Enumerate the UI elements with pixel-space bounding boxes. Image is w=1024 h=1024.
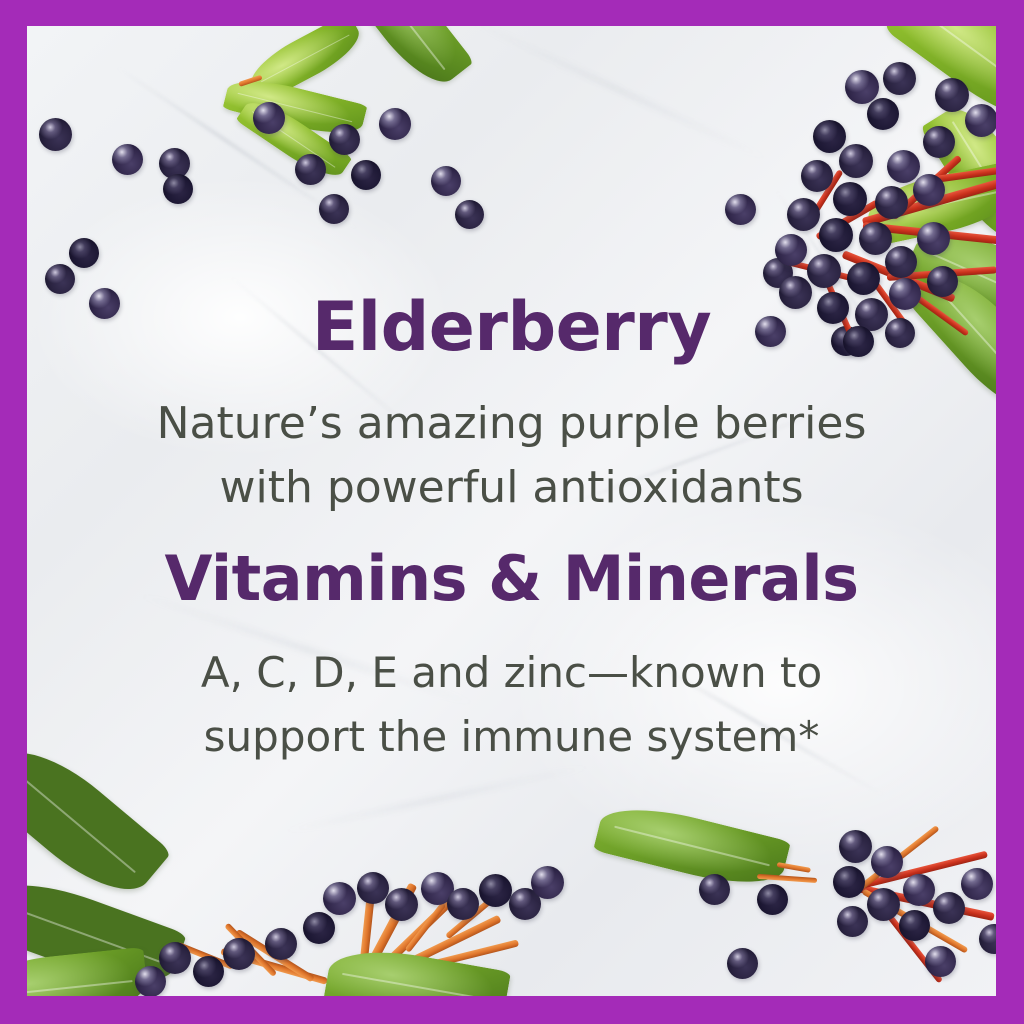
berry-icon: [431, 166, 461, 196]
berry-icon: [801, 160, 833, 192]
berry-icon: [867, 888, 900, 921]
berry-icon: [875, 186, 908, 219]
berry-icon: [479, 874, 512, 907]
berry-icon: [163, 174, 193, 204]
berry-icon: [871, 846, 903, 878]
berry-icon: [351, 160, 381, 190]
berry-icon: [385, 888, 418, 921]
berry-icon: [193, 956, 224, 987]
berry-icon: [69, 238, 99, 268]
berry-icon: [357, 872, 389, 904]
subtitle-primary-line-1: Nature’s amazing purple berries: [27, 392, 996, 456]
marble-vein: [280, 763, 594, 835]
berry-icon: [883, 62, 916, 95]
berry-icon: [807, 254, 841, 288]
berry-icon: [867, 98, 899, 130]
subtitle-primary: Nature’s amazing purple berries with pow…: [27, 392, 996, 520]
subtitle-secondary-line-1: A, C, D, E and zinc—known to: [27, 641, 996, 705]
berry-icon: [725, 194, 756, 225]
berry-icon: [265, 928, 297, 960]
berry-icon: [917, 222, 950, 255]
berry-icon: [787, 198, 820, 231]
berry-icon: [925, 946, 956, 977]
berry-icon: [159, 942, 191, 974]
berry-icon: [847, 262, 880, 295]
berry-icon: [295, 154, 326, 185]
berry-icon: [913, 174, 945, 206]
berry-icon: [135, 966, 166, 996]
page-title: Elderberry: [27, 294, 996, 362]
berry-icon: [379, 108, 411, 140]
berry-icon: [699, 874, 730, 905]
berry-icon: [833, 182, 867, 216]
berry-icon: [223, 938, 255, 970]
berry-icon: [323, 882, 356, 915]
berry-icon: [885, 246, 917, 278]
subtitle-primary-line-2: with powerful antioxidants: [27, 456, 996, 520]
product-benefit-card: Elderberry Nature’s amazing purple berri…: [0, 0, 1024, 1024]
berry-icon: [839, 144, 873, 178]
berry-icon: [819, 218, 853, 252]
berry-icon: [531, 866, 564, 899]
berry-icon: [447, 888, 479, 920]
subtitle-secondary-line-2: support the immune system*: [27, 705, 996, 769]
subtitle-secondary: A, C, D, E and zinc—known to support the…: [27, 641, 996, 769]
berry-icon: [329, 124, 360, 155]
berry-icon: [927, 266, 958, 297]
berry-icon: [839, 830, 872, 863]
berry-icon: [455, 200, 484, 229]
berry-icon: [757, 884, 788, 915]
berry-icon: [935, 78, 969, 112]
berry-icon: [899, 910, 930, 941]
section-heading-vitamins: Vitamins & Minerals: [27, 548, 996, 610]
berry-icon: [727, 948, 758, 979]
berry-icon: [859, 222, 892, 255]
berry-icon: [813, 120, 846, 153]
leaf-icon: [593, 796, 791, 896]
berry-icon: [319, 194, 349, 224]
marble-vein: [462, 26, 773, 164]
berry-icon: [965, 104, 996, 137]
berry-icon: [933, 892, 965, 924]
berry-icon: [979, 924, 996, 954]
berry-icon: [845, 70, 879, 104]
stem: [757, 874, 817, 883]
berry-icon: [303, 912, 335, 944]
berry-icon: [923, 126, 955, 158]
berry-icon: [775, 234, 807, 266]
berry-icon: [837, 906, 868, 937]
berry-icon: [903, 874, 935, 906]
berry-icon: [45, 264, 75, 294]
berry-icon: [833, 866, 865, 898]
berry-icon: [887, 150, 920, 183]
berry-icon: [39, 118, 72, 151]
berry-icon: [961, 868, 993, 900]
berry-icon: [253, 102, 285, 134]
berry-icon: [112, 144, 143, 175]
